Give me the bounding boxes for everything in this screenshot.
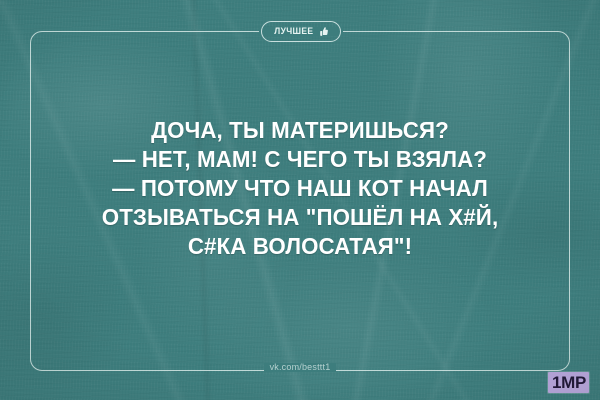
caption-line: ДОЧА, ТЫ МАТЕРИШЬСЯ? bbox=[38, 116, 562, 145]
source-credit-text: vk.com/besttt1 bbox=[264, 363, 337, 372]
caption-line: — НЕТ, МАМ! С ЧЕГО ТЫ ВЗЯЛА? bbox=[38, 145, 562, 174]
image-canvas: ЛУЧШЕЕ ДОЧА, ТЫ МАТЕРИШЬСЯ? — НЕТ, МАМ! … bbox=[0, 0, 600, 400]
thumbs-up-icon bbox=[318, 26, 329, 37]
source-credit: vk.com/besttt1 bbox=[0, 363, 600, 372]
best-badge: ЛУЧШЕЕ bbox=[261, 21, 341, 42]
watermark-badge: 1MP bbox=[548, 372, 589, 393]
caption-line: С#КА ВОЛОСАТАЯ"! bbox=[38, 232, 562, 261]
best-badge-label: ЛУЧШЕЕ bbox=[274, 27, 313, 36]
caption-line: — ПОТОМУ ЧТО НАШ КОТ НАЧАЛ bbox=[38, 174, 562, 203]
joke-caption: ДОЧА, ТЫ МАТЕРИШЬСЯ? — НЕТ, МАМ! С ЧЕГО … bbox=[30, 116, 570, 261]
caption-line: ОТЗЫВАТЬСЯ НА "ПОШЁЛ НА Х#Й, bbox=[38, 203, 562, 232]
